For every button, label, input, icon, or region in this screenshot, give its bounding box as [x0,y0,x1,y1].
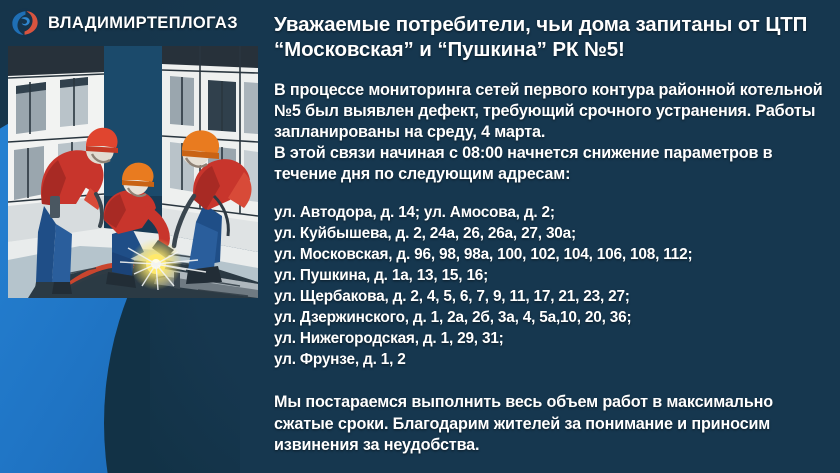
closing-paragraph: Мы постараемся выполнить весь объем рабо… [274,392,830,455]
body-paragraph-2: В этой связи начиная с 08:00 начнется сн… [274,143,830,185]
list-item: ул. Нижегородская, д. 1, 29, 31; [274,328,830,349]
list-item: ул. Щербакова, д. 2, 4, 5, 6, 7, 9, 11, … [274,286,830,307]
brand-logo: ВЛАДИМИРТЕПЛОГАЗ [10,8,238,38]
list-item: ул. Куйбышева, д. 2, 24а, 26, 26а, 27, 3… [274,223,830,244]
body-paragraph-1: В процессе мониторинга сетей первого кон… [274,80,830,143]
announcement-content: Уважаемые потребители, чьи дома запитаны… [274,12,830,456]
list-item: ул. Автодора, д. 14; ул. Амосова, д. 2; [274,202,830,223]
list-item: ул. Пушкина, д. 1а, 13, 15, 16; [274,265,830,286]
list-item: ул. Московская, д. 96, 98, 98а, 100, 102… [274,244,830,265]
workers-illustration [8,46,258,298]
address-list: ул. Автодора, д. 14; ул. Амосова, д. 2; … [274,202,830,370]
list-item: ул. Фрунзе, д. 1, 2 [274,349,830,370]
flame-circle-icon [10,8,40,38]
list-item: ул. Дзержинского, д. 1, 2а, 2б, 3а, 4, 5… [274,307,830,328]
announcement-poster: ВЛАДИМИРТЕПЛОГАЗ [0,0,840,473]
page-title: Уважаемые потребители, чьи дома запитаны… [274,12,830,62]
brand-name: ВЛАДИМИРТЕПЛОГАЗ [48,14,238,33]
